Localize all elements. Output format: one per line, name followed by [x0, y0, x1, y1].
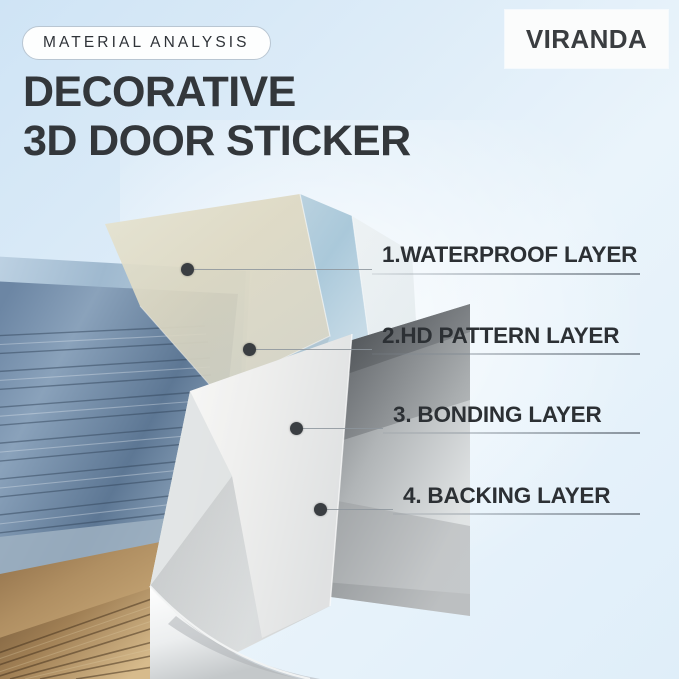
badge-label: MATERIAL ANALYSIS [43, 34, 250, 52]
title-line-1: DECORATIVE [23, 68, 493, 117]
callout-underline [383, 432, 640, 434]
callout-leader-line [302, 428, 383, 429]
infographic-canvas: MATERIAL ANALYSIS DECORATIVE 3D DOOR STI… [0, 0, 679, 679]
callout-underline [372, 353, 640, 355]
callout-dot [290, 422, 303, 435]
brand-logo: VIRANDA [505, 10, 668, 68]
callout-dot [181, 263, 194, 276]
page-title: DECORATIVE 3D DOOR STICKER [23, 68, 493, 166]
title-line-2: 3D DOOR STICKER [23, 117, 493, 166]
callout-leader-line [255, 349, 372, 350]
callout-dot [243, 343, 256, 356]
callout-underline [372, 273, 640, 275]
callout-label: 2.HD PATTERN LAYER [382, 323, 619, 349]
callout-leader-line [193, 269, 372, 270]
brand-name: VIRANDA [526, 24, 647, 55]
callout-label: 4. BACKING LAYER [403, 483, 610, 509]
callout-dot [314, 503, 327, 516]
callout-underline [393, 513, 640, 515]
callout-label: 3. BONDING LAYER [393, 402, 602, 428]
callout-leader-line [326, 509, 393, 510]
material-analysis-badge: MATERIAL ANALYSIS [22, 26, 271, 60]
callout-label: 1.WATERPROOF LAYER [382, 242, 637, 268]
